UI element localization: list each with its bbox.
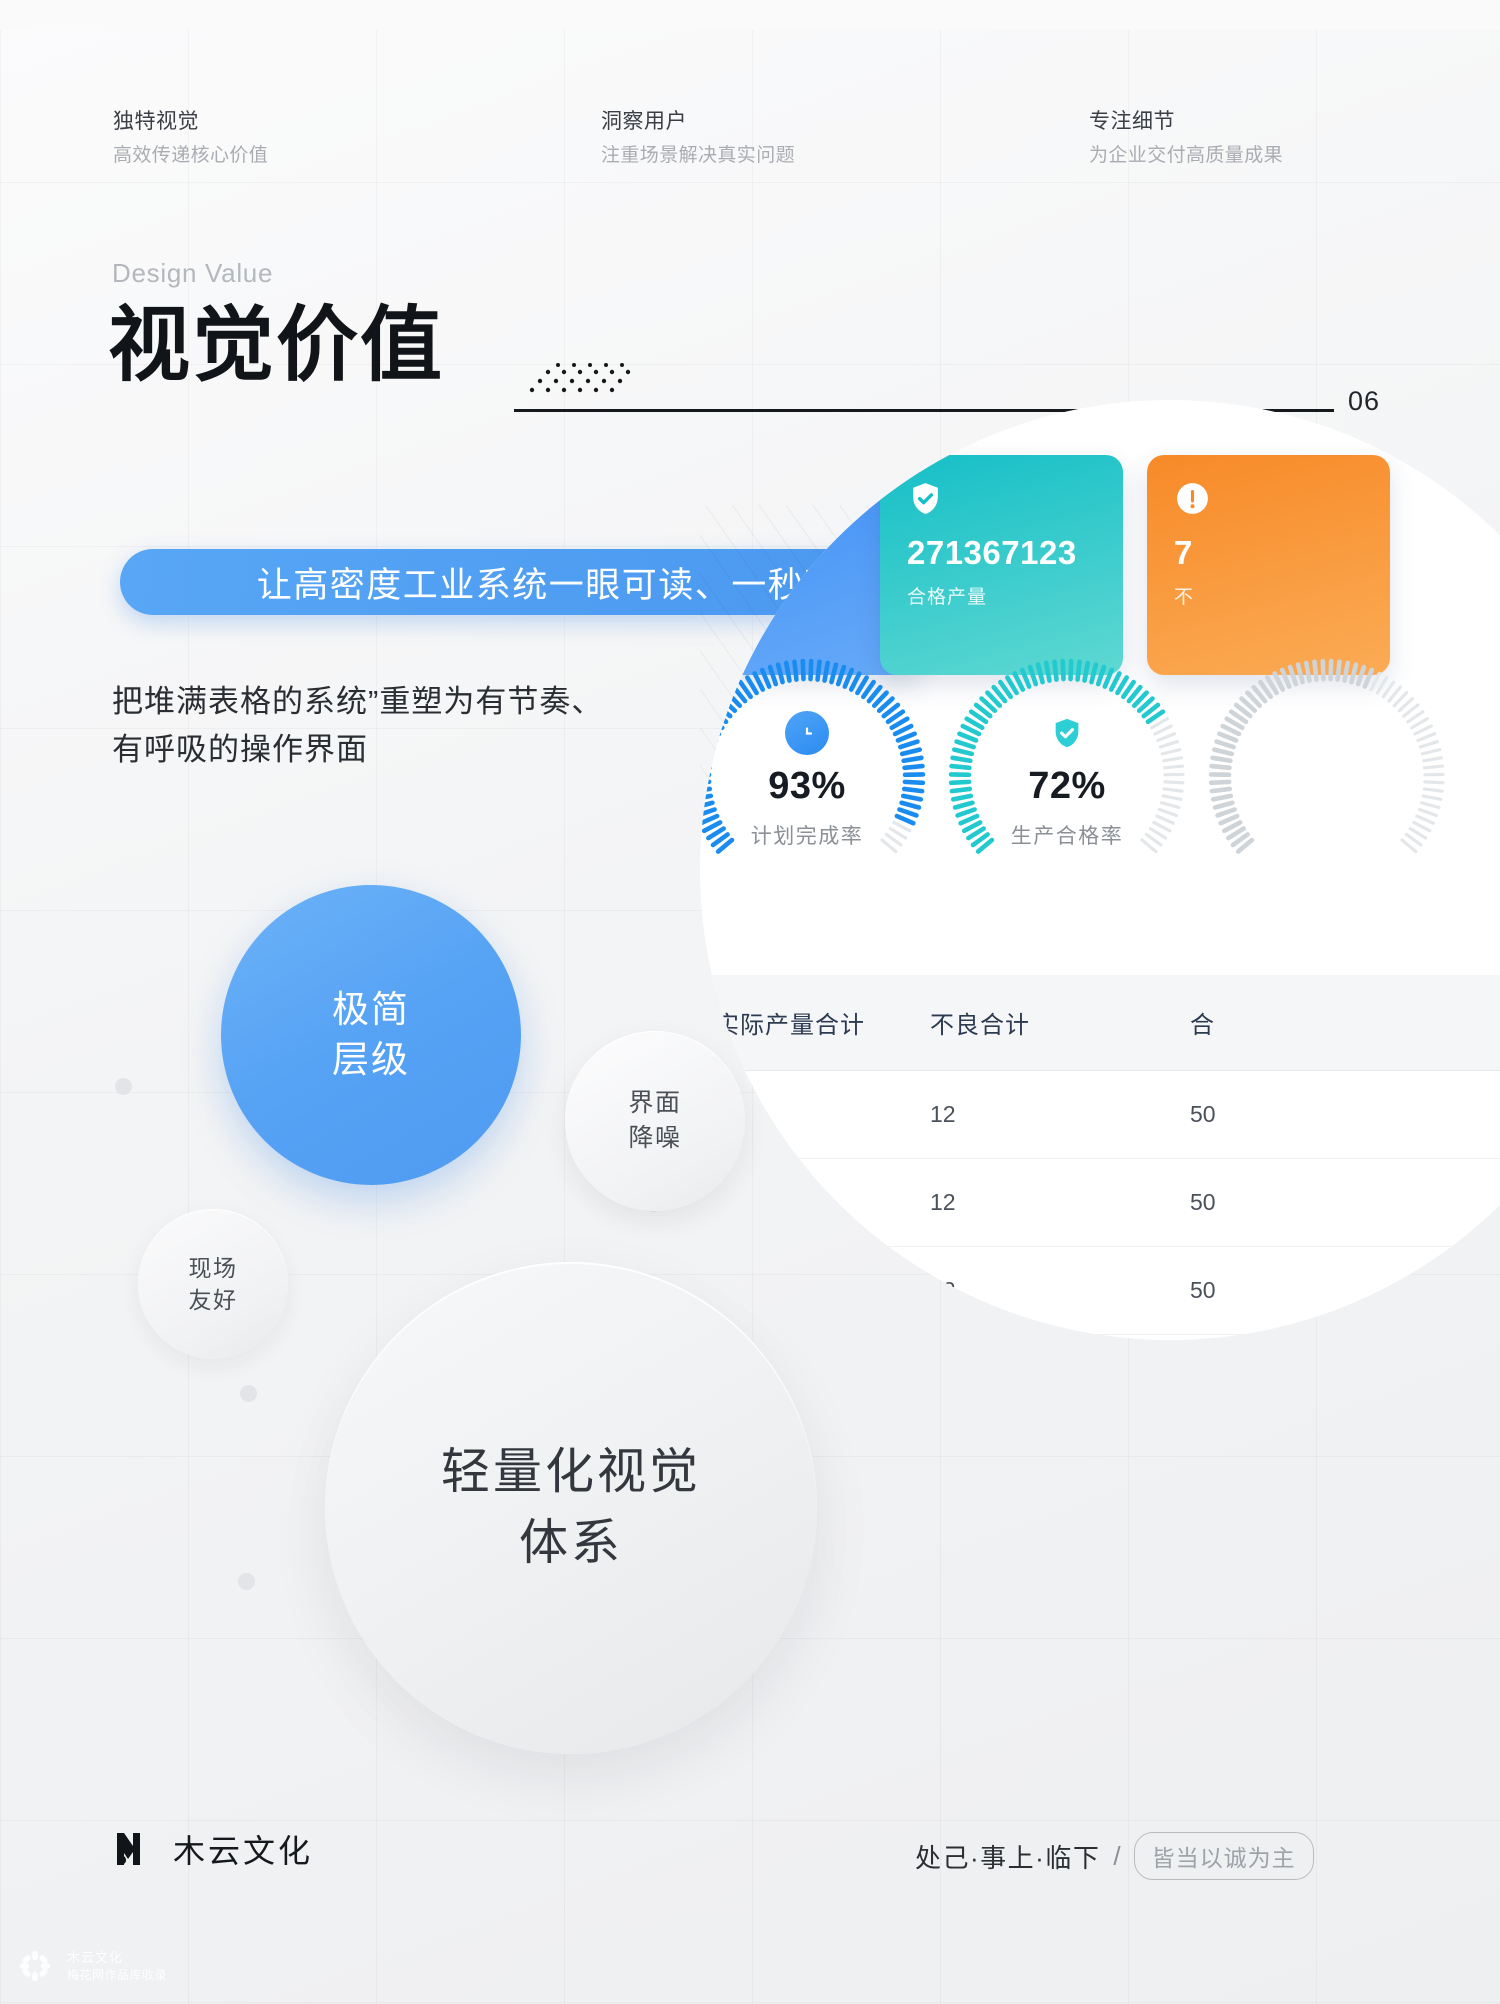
bubble-line-2: 降噪 (628, 1121, 681, 1156)
shield-icon-wrap (1045, 711, 1089, 755)
clock-icon (795, 721, 819, 745)
header-subtitle: 高效传递核心价值 (113, 141, 268, 171)
grid-node (240, 1385, 257, 1402)
table-column-header: 合 (1190, 1005, 1450, 1040)
alert-icon (1174, 480, 1211, 517)
table-row[interactable]: 12 50 (700, 1247, 1500, 1335)
bubble-line-1: 极简 (332, 985, 410, 1035)
table-cell: 12 (930, 1101, 1190, 1128)
brand-name: 木云文化 (173, 1826, 313, 1872)
table-cell: 50 (1190, 1277, 1450, 1304)
table-row[interactable]: 12 50 (700, 1159, 1500, 1247)
header-column-2: 洞察用户 注重场景解决真实问题 (601, 108, 795, 172)
stat-card-label: 不 (1174, 582, 1363, 609)
gauge-label: 计划完成率 (700, 820, 929, 850)
watermark-line-1: 木云文化 (67, 1949, 167, 1967)
bubble-field-friendly: 现场 友好 (138, 1209, 288, 1359)
footer-tagline: 处己·事上·临下 (915, 1838, 1100, 1875)
eyebrow-label: Design Value (112, 258, 273, 289)
bubble-minimal-hierarchy: 极简 层级 (221, 885, 521, 1185)
footer: 木云文化 处己·事上·临下 / 皆当以诚为主 (0, 1826, 1500, 1886)
watermark-text: 木云文化 梅花网作品库收录 (67, 1949, 167, 1984)
brand-lockup: 木云文化 (113, 1826, 313, 1872)
footer-tagline-group: 处己·事上·临下 / 皆当以诚为主 (915, 1832, 1314, 1880)
header-column-3: 专注细节 为企业交付高质量成果 (1089, 108, 1283, 172)
gauge-third (1205, 655, 1449, 899)
bubble-line-2: 体系 (519, 1508, 623, 1579)
data-table: 实际产量合计 不良合计 合 0 12 50 12 50 12 50 (700, 975, 1500, 1335)
watermark-logo-icon (16, 1947, 54, 1985)
header-subtitle: 为企业交付高质量成果 (1089, 141, 1283, 171)
grid-node (115, 1078, 132, 1095)
table-header-row: 实际产量合计 不良合计 合 (700, 975, 1500, 1071)
bubble-line-1: 现场 (189, 1252, 238, 1284)
table-column-header: 不良合计 (930, 1005, 1190, 1040)
header-column-1: 独特视觉 高效传递核心价值 (113, 108, 268, 172)
grid-node (238, 1573, 255, 1590)
stat-card-defect[interactable]: 7 不 (1147, 455, 1390, 675)
gauge-value: 72% (945, 765, 1189, 808)
dot-matrix-decoration (528, 362, 668, 400)
shield-check-icon (1050, 716, 1084, 750)
bubble-line-2: 友好 (189, 1284, 238, 1316)
table-column-header: 实际产量合计 (700, 1005, 930, 1040)
lead-paragraph: 把堆满表格的系统”重塑为有节奏、有呼吸的操作界面 (112, 678, 752, 774)
gauge-label: 生产合格率 (945, 820, 1189, 850)
clock-icon-wrap (785, 711, 829, 755)
footer-separator: / (1113, 1841, 1120, 1872)
table-cell: 0 (700, 1101, 930, 1128)
poster-canvas: 独特视觉 高效传递核心价值 洞察用户 注重场景解决真实问题 专注细节 为企业交付… (0, 0, 1500, 2004)
page-title: 视觉价值 (108, 305, 444, 387)
header-title: 洞察用户 (601, 108, 795, 136)
header-title: 独特视觉 (113, 108, 268, 136)
top-bleed (0, 0, 1500, 30)
table-cell: 12 (930, 1189, 1190, 1216)
shield-check-icon (907, 480, 944, 517)
table-cell: 12 (930, 1277, 1190, 1304)
gauge-production-pass-rate: 72% 生产合格率 (945, 655, 1189, 899)
header-subtitle: 注重场景解决真实问题 (601, 141, 795, 171)
table-cell: 50 (1190, 1101, 1450, 1128)
stat-card-value: 7 (1174, 536, 1363, 569)
bubble-line-1: 轻量化视觉 (441, 1437, 701, 1508)
watermark: 木云文化 梅花网作品库收录 (16, 1947, 167, 1985)
header-title: 专注细节 (1089, 108, 1283, 136)
header-strip: 独特视觉 高效传递核心价值 洞察用户 注重场景解决真实问题 专注细节 为企业交付… (0, 108, 1500, 178)
watermark-line-2: 梅花网作品库收录 (67, 1967, 167, 1984)
stat-card-qualified-output[interactable]: 271367123 合格产量 (880, 455, 1123, 675)
gauge-ticks (1205, 655, 1449, 899)
stat-card-value: 271367123 (907, 536, 1096, 569)
bubble-line-2: 层级 (332, 1035, 410, 1085)
footer-chip: 皆当以诚为主 (1134, 1832, 1314, 1880)
bubble-line-1: 界面 (628, 1086, 681, 1121)
table-cell: 50 (1190, 1189, 1450, 1216)
stat-card-label: 合格产量 (907, 582, 1096, 609)
gauge-value: 93% (700, 765, 929, 808)
dashboard-mockup: 47 271367123 合格产量 7 不 (700, 400, 1500, 1360)
table-row[interactable]: 0 12 50 (700, 1071, 1500, 1159)
brand-logo-icon (113, 1829, 153, 1869)
